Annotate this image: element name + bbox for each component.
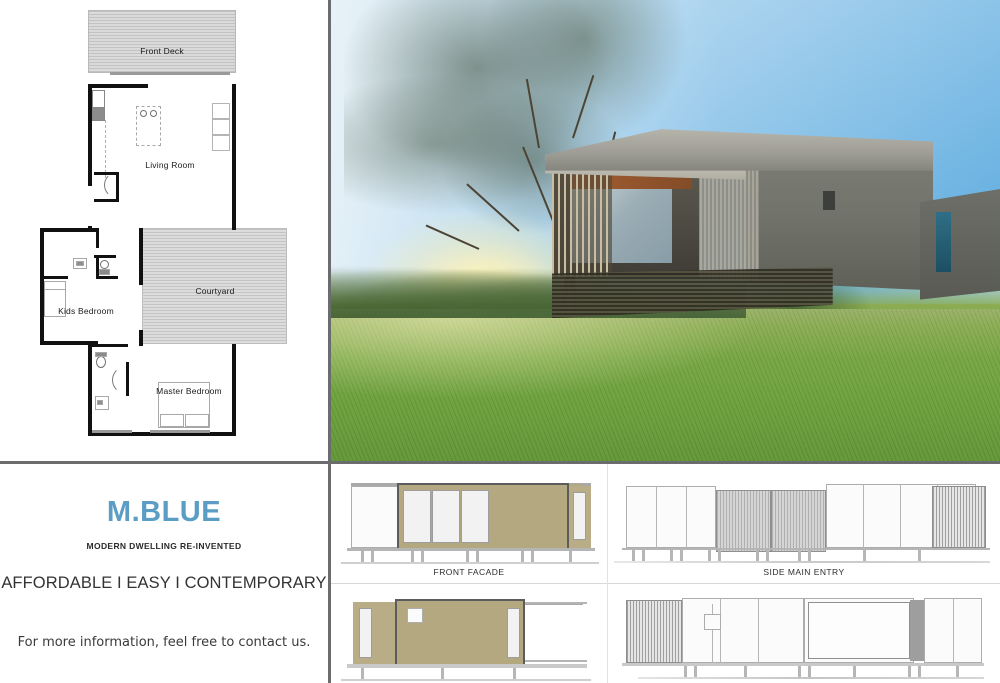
- wall-segment: [139, 228, 143, 285]
- wall-segment: [232, 228, 236, 230]
- presentation-board: Front Deck Living Room: [0, 0, 1000, 683]
- elevations-panel: FRONT FACADE: [331, 464, 1000, 683]
- floor-plan-drawing: Front Deck Living Room: [0, 0, 328, 461]
- shower-drain-icon: [97, 400, 103, 405]
- elevations-row-divider: [331, 583, 1000, 584]
- wall-segment: [94, 199, 119, 202]
- shelf-unit: [212, 135, 230, 151]
- courtyard-label: Courtyard: [155, 286, 275, 296]
- elevation-caption-side-main-entry: SIDE MAIN ENTRY: [608, 567, 1000, 577]
- wall-segment: [40, 276, 68, 279]
- wall-segment: [232, 84, 236, 230]
- wall-segment: [88, 84, 148, 88]
- hero-photograph: [331, 0, 1000, 461]
- shelf-unit: [212, 103, 230, 119]
- wall-segment: [94, 255, 116, 258]
- basin-bowl-icon: [76, 261, 84, 266]
- sink-icon: [140, 110, 147, 117]
- front-deck-area: [88, 10, 236, 73]
- wall-segment: [96, 228, 99, 248]
- cooktop-icon: [92, 108, 105, 121]
- toilet-cistern-icon: [95, 352, 107, 357]
- front-deck-label: Front Deck: [88, 46, 236, 56]
- door-swing-icon: [112, 366, 140, 394]
- toilet-bowl-icon: [100, 260, 109, 269]
- wall-segment: [88, 344, 92, 436]
- living-room-label: Living Room: [120, 160, 220, 170]
- master-bedroom-label: Master Bedroom: [142, 386, 236, 396]
- elevation-side: [608, 584, 1000, 683]
- toilet-cistern-icon: [99, 269, 110, 275]
- board-vertical-divider: [328, 0, 331, 683]
- building-far-wing: [920, 189, 1000, 300]
- floor-plan-panel: Front Deck Living Room: [0, 0, 328, 461]
- pillow-outline: [160, 414, 184, 427]
- threshold: [150, 430, 210, 433]
- toilet-bowl-icon: [96, 356, 106, 368]
- pillow-outline: [44, 281, 66, 290]
- building-blue-door: [936, 212, 951, 272]
- grass-hillside: [331, 304, 1000, 461]
- brand-slogan: MODERN DWELLING RE-INVENTED: [87, 541, 242, 551]
- sink-icon: [150, 110, 157, 117]
- kids-bedroom-label: Kids Bedroom: [36, 306, 136, 316]
- brand-tagline: AFFORDABLE I EASY I CONTEMPORARY: [1, 574, 326, 593]
- branding-panel: M.BLUE MODERN DWELLING RE-INVENTED AFFOR…: [0, 464, 328, 683]
- brand-logo: M.BLUE: [107, 498, 221, 527]
- wall-segment: [88, 344, 128, 347]
- wall-segment: [96, 276, 118, 279]
- door-swing-icon: [104, 172, 130, 198]
- wall-segment: [139, 330, 143, 346]
- board-horizontal-divider: [0, 461, 1000, 464]
- building-small-window: [823, 191, 835, 209]
- hero-photo-panel: [331, 0, 1000, 461]
- pillow-outline: [185, 414, 209, 427]
- elevation-front-facade: FRONT FACADE: [331, 464, 607, 583]
- elevation-caption-front-facade: FRONT FACADE: [331, 567, 607, 577]
- service-line: [105, 120, 106, 178]
- elevation-side-main-entry: SIDE MAIN ENTRY: [608, 464, 1000, 583]
- wall-segment: [40, 228, 96, 232]
- elevation-rear: [331, 584, 607, 683]
- contact-prompt: For more information, feel free to conta…: [18, 635, 311, 650]
- shelf-unit: [212, 119, 230, 135]
- threshold: [92, 430, 132, 433]
- threshold: [110, 72, 230, 75]
- kitchen-bench: [92, 90, 105, 108]
- elevations-column-divider: [607, 464, 608, 683]
